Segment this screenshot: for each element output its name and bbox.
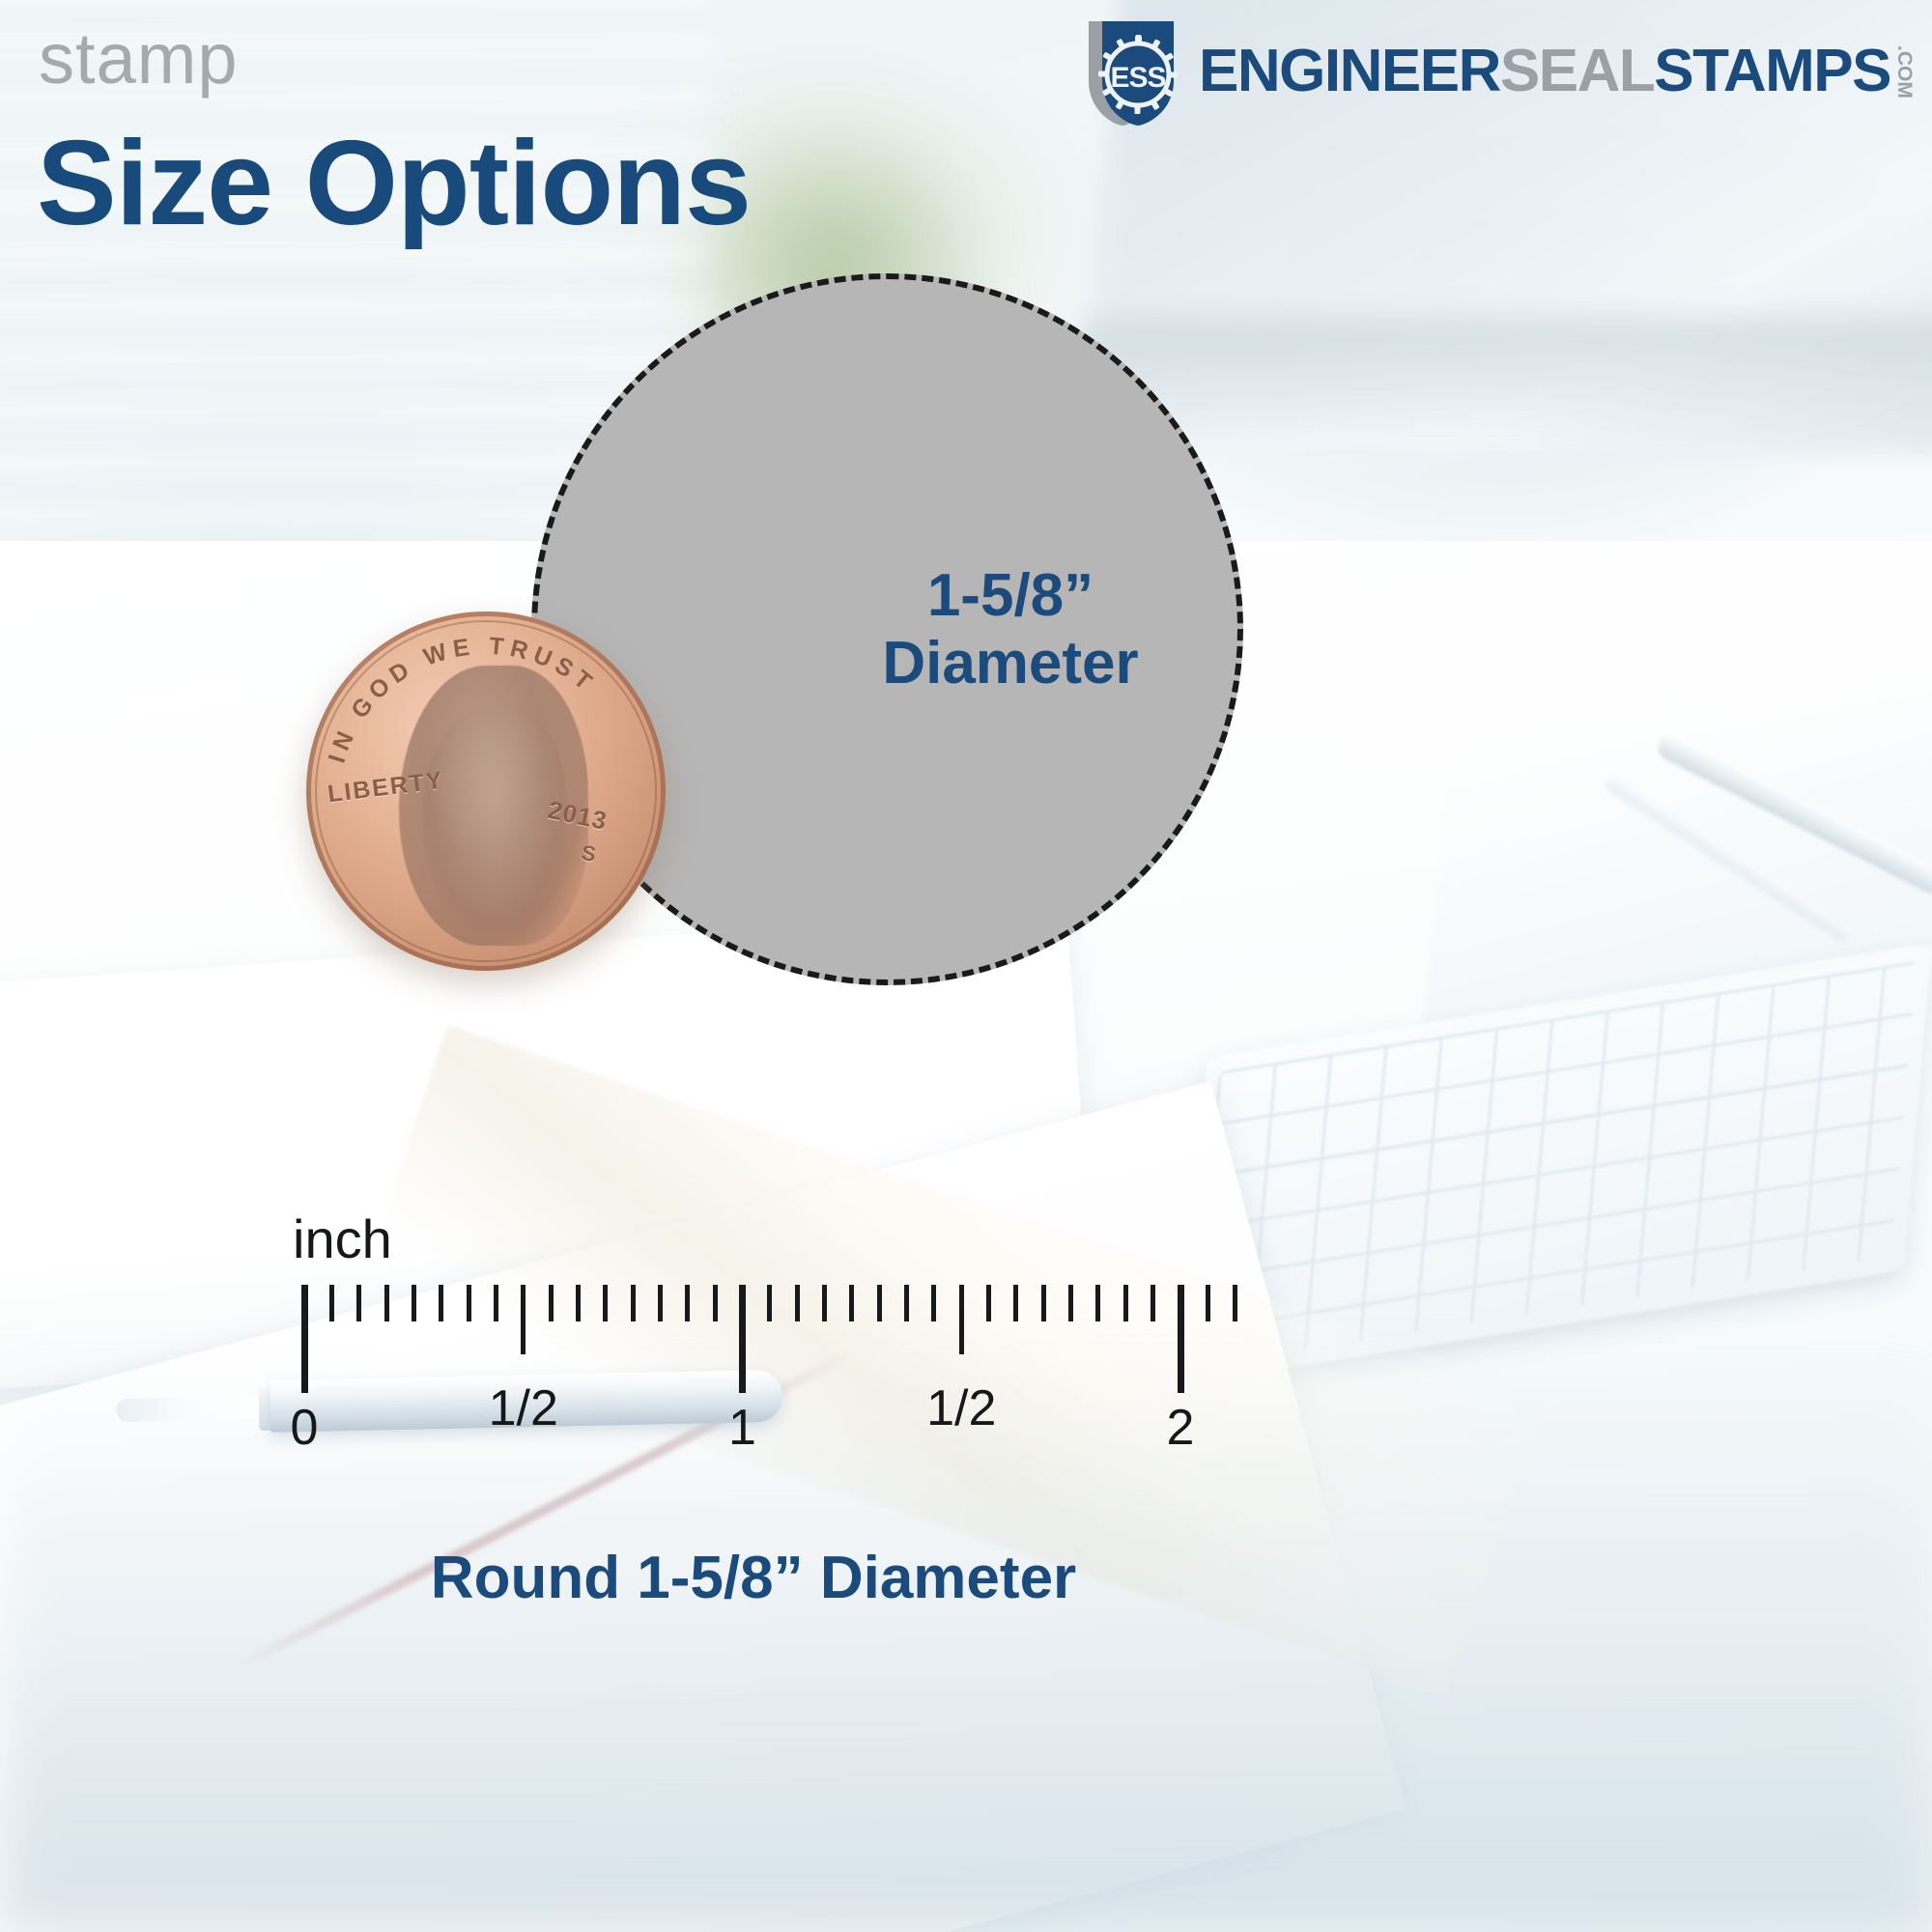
logo-word-com: .COM (1894, 45, 1915, 99)
monitor-edge-blur (1082, 319, 1932, 435)
penny-coin: IN GOD WE TRUST LIBERTY 2013 S (306, 611, 666, 971)
size-options-infographic: stamp Size Options (0, 0, 1932, 1932)
pen-tip (116, 1396, 270, 1422)
logo-word-engineer: ENGINEER (1199, 42, 1500, 101)
page-title: Size Options (37, 124, 751, 243)
logo-word-stamps: STAMPS (1654, 42, 1890, 101)
stamp-size-value: 1-5/8” (882, 562, 1138, 629)
brand-word: stamp (39, 23, 239, 95)
stamp-size-label: 1-5/8” Diameter (882, 562, 1138, 696)
ess-shield-icon: ESS (1067, 15, 1189, 128)
stamp-size-unit: Diameter (882, 630, 1138, 696)
logo-word-seal: SEAL (1500, 42, 1654, 101)
size-caption: Round 1-5/8” Diameter (0, 1544, 1507, 1612)
company-logo[interactable]: ESS ENGINEERSEALSTAMPS.COM (1067, 15, 1915, 128)
logo-wordmark: ENGINEERSEALSTAMPS.COM (1199, 42, 1915, 101)
coin-motto-text: IN GOD WE TRUST (324, 633, 602, 766)
ruler-unit-label: inch (293, 1207, 392, 1270)
svg-text:ESS: ESS (1111, 62, 1166, 94)
pen-barrel (270, 1370, 782, 1433)
svg-text:IN GOD WE TRUST: IN GOD WE TRUST (324, 633, 602, 766)
